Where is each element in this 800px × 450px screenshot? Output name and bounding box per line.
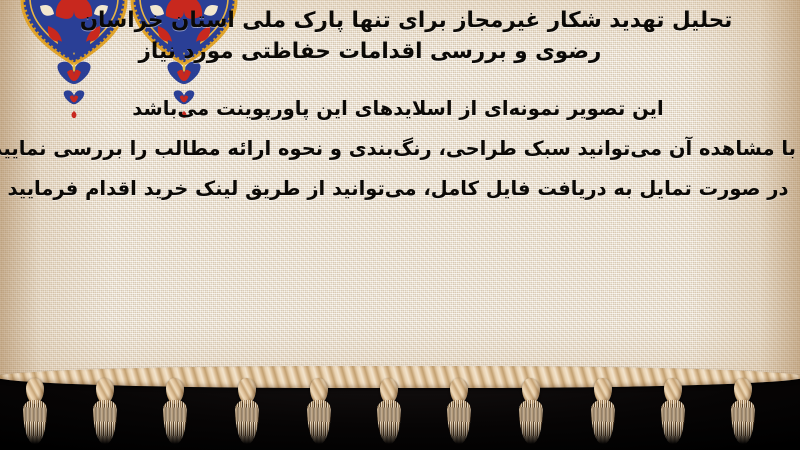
fringe-tassel xyxy=(376,378,402,448)
fringe-tassel xyxy=(22,378,48,448)
fringe-tassel xyxy=(306,378,332,448)
slide-title: تحلیل تهدید شکار غیرمجاز برای تنها پارک … xyxy=(0,6,796,67)
tassel-skirt xyxy=(447,400,471,444)
fringe-tassel xyxy=(162,378,188,448)
fringe-tassel xyxy=(518,378,544,448)
slide-title-line-2: رضوی و بررسی اقدامات حفاظتی مورد نیاز xyxy=(0,37,740,68)
slide-body-line-3: در صورت تمایل به دریافت فایل کامل، می‌تو… xyxy=(0,169,796,209)
fringe-tassel xyxy=(590,378,616,448)
tassel-skirt xyxy=(731,400,755,444)
tassel-skirt xyxy=(377,400,401,444)
tassel-skirt xyxy=(23,400,47,444)
fringe-tassel xyxy=(446,378,472,448)
fringe-tassel xyxy=(730,378,756,448)
slide-body-line-2: با مشاهده آن می‌توانید سبک طراحی، رنگ‌بن… xyxy=(0,129,796,169)
carpet-fringe xyxy=(0,358,800,450)
slide-title-line-1: تحلیل تهدید شکار غیرمجاز برای تنها پارک … xyxy=(0,6,800,37)
slide-text-block: تحلیل تهدید شکار غیرمجاز برای تنها پارک … xyxy=(0,0,800,209)
fringe-tassel xyxy=(92,378,118,448)
slide-body: این تصویر نمونه‌ای از اسلایدهای این پاور… xyxy=(0,89,796,209)
tassel-skirt xyxy=(591,400,615,444)
tassel-skirt xyxy=(235,400,259,444)
tassel-skirt xyxy=(307,400,331,444)
tassel-skirt xyxy=(163,400,187,444)
tassel-skirt xyxy=(519,400,543,444)
tassel-skirt xyxy=(661,400,685,444)
fringe-tassel xyxy=(660,378,686,448)
slide-body-line-1: این تصویر نمونه‌ای از اسلایدهای این پاور… xyxy=(0,89,796,129)
fringe-tassel xyxy=(234,378,260,448)
tassel-skirt xyxy=(93,400,117,444)
presentation-slide: تحلیل تهدید شکار غیرمجاز برای تنها پارک … xyxy=(0,0,800,450)
